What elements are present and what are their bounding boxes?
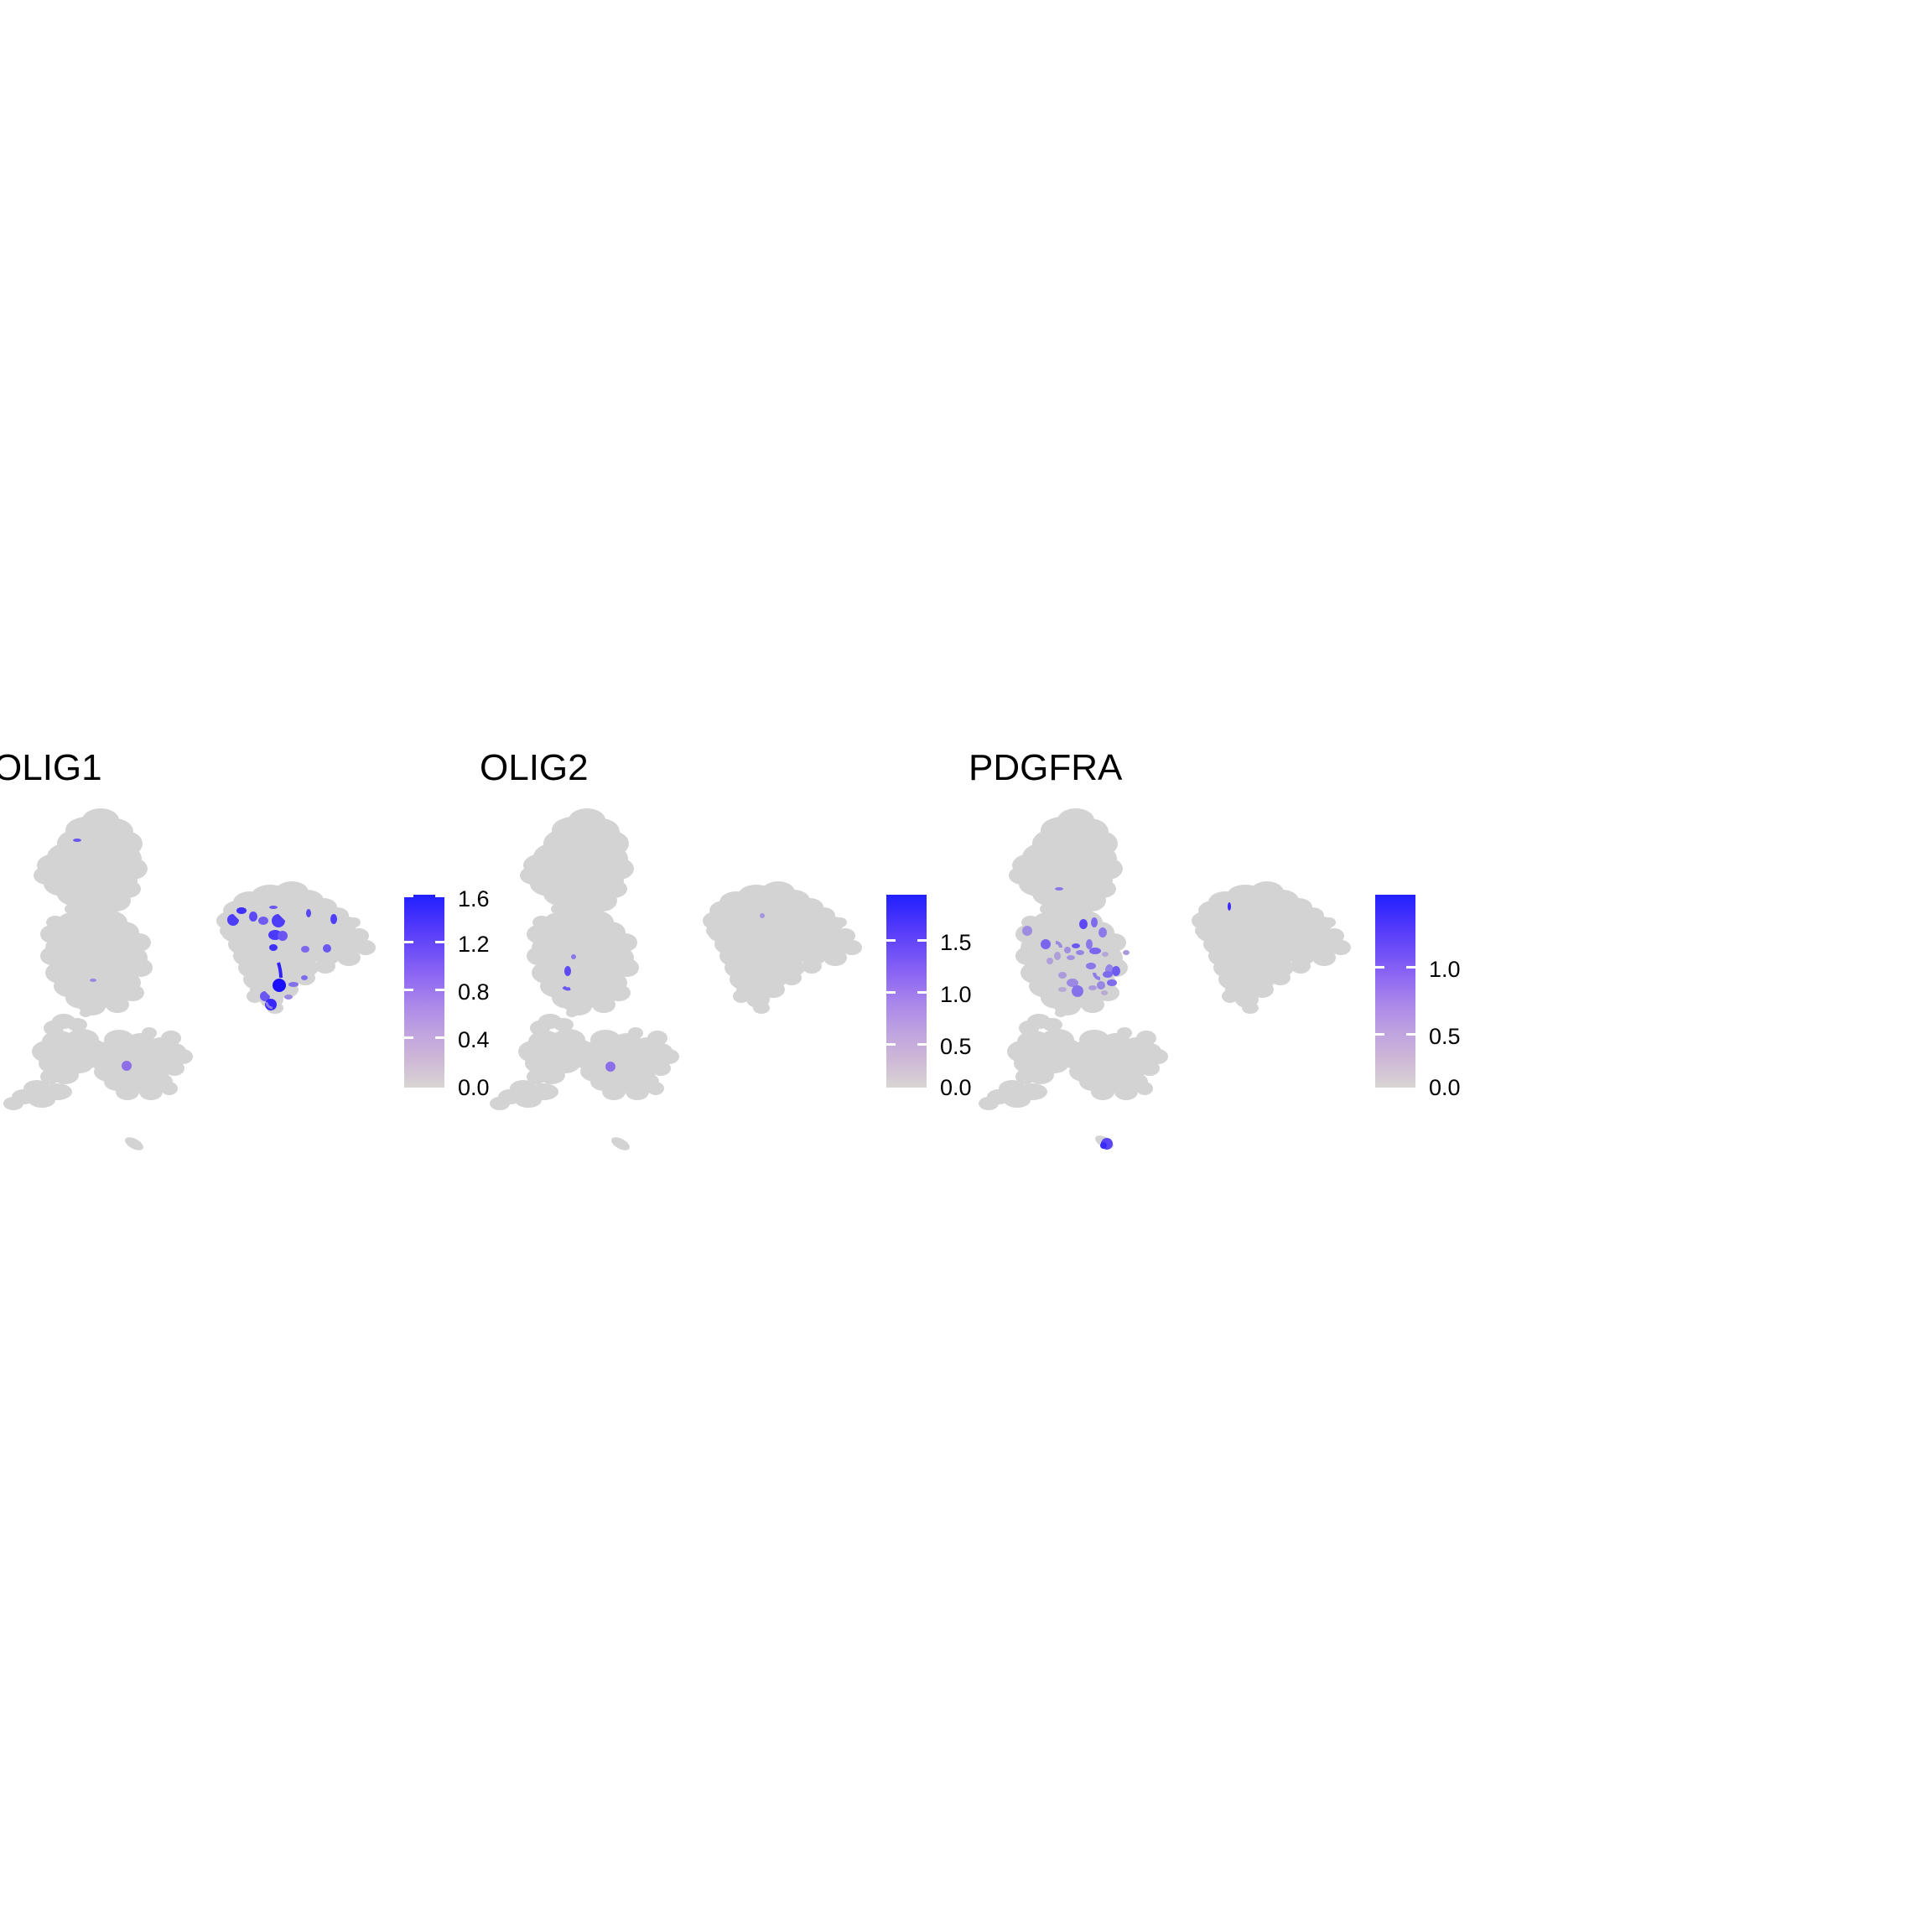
colorbar-tick-label: 1.5	[940, 932, 972, 954]
umap-scatter-olig2	[480, 797, 899, 1199]
umap-points-olig2	[480, 797, 899, 1199]
colorbar-tick-mark	[1406, 1033, 1415, 1036]
colorbar-gradient-olig1	[404, 895, 444, 1088]
umap-scatter-olig1	[0, 797, 413, 1199]
panel-olig1: OLIG1	[0, 746, 480, 1199]
panel-title-olig2: OLIG2	[480, 746, 589, 790]
umap-scatter-pdgfra	[969, 797, 1388, 1199]
colorbar-tick-label: 1.0	[940, 984, 972, 1006]
colorbar-tick-mark	[1375, 966, 1384, 969]
colorbar-tick-mark	[435, 941, 444, 943]
unexpressed-cells	[3, 808, 376, 1153]
colorbar-tick-mark	[404, 989, 413, 991]
panel-olig2: OLIG2	[480, 746, 966, 1199]
colorbar-tick-mark	[886, 1043, 896, 1046]
colorbar-tick-mark	[1375, 1033, 1384, 1036]
colorbar-tick-mark	[886, 939, 896, 942]
colorbar-tick-label: 1.0	[1429, 958, 1461, 981]
colorbar-tick-mark	[404, 895, 413, 897]
umap-points-olig1	[0, 797, 413, 1199]
panel-pdgfra: PDGFRA	[969, 746, 1455, 1199]
feature-plot-figure: OLIG1	[0, 0, 1932, 1932]
colorbar-tick-label: 0.5	[940, 1036, 972, 1058]
colorbar-tick-mark	[917, 1043, 927, 1046]
panel-title-pdgfra: PDGFRA	[969, 746, 1122, 790]
panel-title-olig1: OLIG1	[0, 746, 102, 790]
colorbar-tick-mark	[404, 941, 413, 943]
unexpressed-cells	[979, 808, 1351, 1151]
colorbar-tick-label: 0.5	[1429, 1026, 1461, 1048]
colorbar-tick-mark	[435, 895, 444, 897]
colorbar-tick-mark	[1406, 966, 1415, 969]
colorbar-tick-mark	[435, 1036, 444, 1039]
colorbar-pdgfra: 1.0 0.5 0.0	[1375, 895, 1518, 1104]
colorbar-gradient-pdgfra	[1375, 895, 1415, 1088]
colorbar-tick-mark	[917, 991, 927, 994]
colorbar-tick-mark	[404, 1036, 413, 1039]
colorbar-tick-mark	[917, 939, 927, 942]
unexpressed-cells	[490, 808, 862, 1153]
colorbar-tick-label: 0.0	[940, 1077, 972, 1099]
colorbar-tick-label: 0.0	[1429, 1077, 1461, 1099]
colorbar-tick-mark	[886, 991, 896, 994]
colorbar-tick-mark	[435, 989, 444, 991]
umap-points-pdgfra	[969, 797, 1388, 1199]
